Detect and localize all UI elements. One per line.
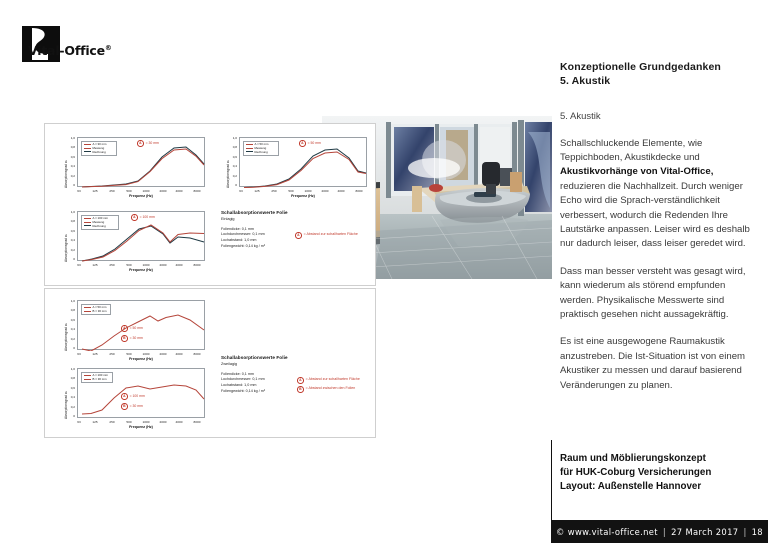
y-tick: 0,6 (65, 229, 75, 233)
x-tick: 1000 (301, 189, 315, 193)
badge-a: A (121, 393, 128, 400)
legend-label: Rechnung (93, 151, 106, 154)
footer-separator: | (658, 527, 671, 537)
chart-bottom-lower-xlabel: Frequenz (Hz) (111, 425, 171, 429)
chart-top-left-lower-legend: A = 100 mm Messung Rechnung (81, 215, 119, 230)
footer-page-number: 18 (752, 527, 763, 537)
y-tick: 1,0 (65, 299, 75, 303)
y-tick: 0 (65, 183, 75, 187)
badge-a: A (131, 214, 138, 221)
legend-swatch-b (84, 379, 91, 380)
body-paragraph-3: Es ist eine ausgewogene Raumakustik anzu… (560, 335, 760, 393)
y-tick: 0,2 (65, 174, 75, 178)
badge-a: A (297, 377, 304, 384)
x-tick: 250 (106, 189, 118, 193)
spec-block-top: Schallabsorptionswerte Folie Einlagig Fo… (221, 210, 369, 272)
x-tick: 4000 (172, 352, 186, 356)
x-tick: 2000 (156, 352, 170, 356)
x-tick: 8000 (190, 263, 204, 267)
chart-top-left-annotation: A = 30 mm (137, 140, 159, 147)
annotation-text: = 30 mm (146, 141, 159, 145)
footer-separator: | (738, 527, 751, 537)
footer-text: © www.vital-office.net|27 March 2017|18 (556, 527, 763, 537)
x-tick: 8000 (190, 420, 204, 424)
x-tick: 63 (73, 263, 85, 267)
badge-a: A (121, 325, 128, 332)
spec-legend-text: = Abstand zur schallharten Fläche (306, 377, 360, 382)
project-footer-line1: Raum und Möblierungskonzept (560, 452, 765, 466)
x-tick: 4000 (334, 189, 348, 193)
legend-swatch-a (84, 144, 91, 145)
chart-bottom-upper: Absorptionsgrad αₛ 1,0 0,8 0,6 0,4 0,2 0… (59, 297, 209, 363)
y-tick: 0,4 (65, 238, 75, 242)
y-tick: 0,4 (65, 395, 75, 399)
chart-bottom-lower-legend: A = 100 mm B = 30 mm (81, 372, 113, 383)
chart-bottom-lower-annotation-a: A = 100 mm (121, 393, 145, 400)
chart-panel-top: Absorptionsgrad αₛ 1,0 0,8 0,6 0,4 0,2 0… (44, 123, 376, 286)
annotation-text: = 100 mm (140, 215, 155, 219)
spec-block-bottom: Schallabsorptionswerte Folie Zweilagig F… (221, 355, 371, 425)
y-tick: 1,0 (65, 136, 75, 140)
project-footer-line3: Layout: Außenstelle Hannover (560, 480, 765, 494)
legend-label: B = 30 mm (93, 310, 107, 313)
annotation-text: = 30 mm (130, 404, 143, 408)
body-paragraph-2: Dass man besser versteht was gesagt wird… (560, 265, 760, 323)
chart-top-right-annotation: A = 50 mm (299, 140, 321, 147)
chart-top-right: Absorptionsgrad αₛ 1,0 0,8 0,6 0,4 0,2 0… (221, 134, 371, 200)
spec-top-subheading: Einlagig (221, 217, 369, 221)
brand-name: Vital-Office (28, 43, 105, 58)
x-tick: 500 (123, 263, 135, 267)
y-tick: 0,8 (65, 219, 75, 223)
chart-bottom-upper-legend: A = 50 mm B = 30 mm (81, 304, 111, 315)
x-tick: 4000 (172, 420, 186, 424)
spec-legend-text: = Abstand zur schallharten Fläche (304, 232, 358, 237)
x-tick: 2000 (156, 189, 170, 193)
legend-swatch-messung (84, 222, 91, 223)
y-tick: 0 (65, 414, 75, 418)
x-tick: 125 (89, 189, 101, 193)
y-tick: 0,2 (65, 405, 75, 409)
x-tick: 250 (106, 263, 118, 267)
y-tick: 1,0 (227, 136, 237, 140)
legend-label: Rechnung (93, 225, 106, 228)
x-tick: 4000 (172, 263, 186, 267)
right-text-column: Konzeptionelle Grundgedanken 5. Akustik … (560, 60, 760, 393)
project-footer-line2: für HUK-Coburg Versicherungen (560, 466, 765, 480)
annotation-text: = 30 mm (130, 336, 143, 340)
y-tick: 0,4 (65, 327, 75, 331)
x-tick: 1000 (139, 263, 153, 267)
badge-b: B (121, 335, 128, 342)
footer-website[interactable]: www.vital-office.net (568, 527, 658, 537)
x-tick: 8000 (190, 189, 204, 193)
y-tick: 0,4 (227, 164, 237, 168)
badge-a: A (295, 232, 302, 239)
annotation-text: = 50 mm (308, 141, 321, 145)
badge-b: B (121, 403, 128, 410)
copyright-symbol: © (556, 527, 565, 537)
chart-top-left-lower-xlabel: Frequenz (Hz) (111, 268, 171, 272)
chart-bottom-lower: Absorptionsgrad αₛ 1,0 0,8 0,6 0,4 0,2 0… (59, 365, 209, 431)
spec-top-legend: A = Abstand zur schallharten Fläche (295, 232, 358, 241)
y-tick: 0,8 (227, 145, 237, 149)
x-tick: 250 (106, 420, 118, 424)
x-tick: 125 (89, 352, 101, 356)
y-tick: 1,0 (65, 367, 75, 371)
x-tick: 63 (235, 189, 247, 193)
x-tick: 63 (73, 189, 85, 193)
x-tick: 8000 (352, 189, 366, 193)
page-title-line1: Konzeptionelle Grundgedanken (560, 60, 760, 74)
project-footer-text: Raum und Möblierungskonzept für HUK-Cobu… (560, 452, 765, 495)
x-tick: 250 (268, 189, 280, 193)
y-tick: 1,0 (65, 210, 75, 214)
page-title-line2: 5. Akustik (560, 74, 760, 88)
legend-swatch-a (84, 218, 91, 219)
x-tick: 4000 (172, 189, 186, 193)
x-tick: 125 (89, 420, 101, 424)
y-tick: 0 (65, 346, 75, 350)
y-tick: 0,4 (65, 164, 75, 168)
x-tick: 125 (89, 263, 101, 267)
chart-bottom-lower-annotation-b: B = 30 mm (121, 403, 143, 410)
x-tick: 500 (123, 189, 135, 193)
badge-b: B (297, 386, 304, 393)
legend-swatch-messung (84, 148, 91, 149)
spec-legend-text: = Abstand zwischen den Folien (306, 386, 356, 391)
legend-swatch-b (84, 311, 91, 312)
legend-label: B = 30 mm (93, 378, 107, 381)
chart-panel-bottom: Absorptionsgrad αₛ 1,0 0,8 0,6 0,4 0,2 0… (44, 288, 376, 438)
x-tick: 63 (73, 420, 85, 424)
spec-bottom-legend: A = Abstand zur schallharten Fläche B = … (297, 377, 360, 395)
x-tick: 63 (73, 352, 85, 356)
spec-item: Foliengewicht: 0,14 kg / m² (221, 244, 369, 250)
legend-swatch-rechnung (246, 151, 253, 152)
badge-a: A (137, 140, 144, 147)
section-label: 5. Akustik (560, 110, 760, 123)
x-tick: 2000 (156, 420, 170, 424)
chart-bottom-upper-xlabel: Frequenz (Hz) (111, 357, 171, 361)
chart-top-left: Absorptionsgrad αₛ 1,0 0,8 0,6 0,4 0,2 0… (59, 134, 209, 200)
footer-date: 27 March 2017 (671, 527, 738, 537)
y-tick: 0 (227, 183, 237, 187)
spec-top-heading: Schallabsorptionswerte Folie (221, 210, 369, 215)
annotation-text: = 50 mm (130, 326, 143, 330)
x-tick: 1000 (139, 189, 153, 193)
x-tick: 1000 (139, 352, 153, 356)
chart-top-left-lower-annotation: A = 100 mm (131, 214, 155, 221)
legend-swatch-a (84, 307, 91, 308)
legend-swatch-a (84, 375, 91, 376)
chart-top-right-legend: A = 50 mm Messung Rechnung (243, 141, 279, 156)
x-tick: 250 (106, 352, 118, 356)
badge-a: A (299, 140, 306, 147)
y-tick: 0,2 (65, 248, 75, 252)
chart-top-left-xlabel: Frequenz (Hz) (111, 194, 171, 198)
brand-logo: Vital-Office® (22, 26, 88, 62)
chart-bottom-upper-annotation-b: B = 30 mm (121, 335, 143, 342)
paragraph-1-bold: Akustikvorhänge von Vital-Office, (560, 166, 713, 177)
spec-bottom-heading: Schallabsorptionswerte Folie (221, 355, 371, 360)
y-tick: 0,8 (65, 308, 75, 312)
y-tick: 0,6 (65, 386, 75, 390)
x-tick: 125 (251, 189, 263, 193)
chart-bottom-upper-annotation-a: A = 50 mm (121, 325, 143, 332)
paragraph-1-pre: Schallschluckende Elemente, wie Teppichb… (560, 138, 702, 163)
x-tick: 2000 (156, 263, 170, 267)
legend-swatch-messung (246, 148, 253, 149)
slide-page: Vital-Office® (0, 0, 768, 543)
legend-label: Rechnung (255, 151, 268, 154)
chart-top-left-legend: A = 30 mm Messung Rechnung (81, 141, 117, 156)
vertical-divider (551, 440, 552, 520)
legend-swatch-a (246, 144, 253, 145)
legend-swatch-rechnung (84, 151, 91, 152)
y-tick: 0,2 (227, 174, 237, 178)
brand-wordmark: Vital-Office® (28, 45, 112, 58)
page-footer-bar: © www.vital-office.net|27 March 2017|18 (551, 520, 768, 543)
y-tick: 0,6 (227, 155, 237, 159)
y-tick: 0,2 (65, 337, 75, 341)
legend-swatch-rechnung (84, 225, 91, 226)
x-tick: 500 (123, 420, 135, 424)
x-tick: 2000 (318, 189, 332, 193)
chart-top-right-xlabel: Frequenz (Hz) (273, 194, 333, 198)
y-tick: 0,6 (65, 318, 75, 322)
body-paragraph-1: Schallschluckende Elemente, wie Teppichb… (560, 137, 760, 252)
x-tick: 8000 (190, 352, 204, 356)
page-title: Konzeptionelle Grundgedanken 5. Akustik (560, 60, 760, 88)
y-tick: 0 (65, 257, 75, 261)
registered-mark: ® (105, 44, 112, 52)
y-tick: 0,8 (65, 376, 75, 380)
spec-bottom-subheading: Zweilagig (221, 362, 371, 366)
x-tick: 1000 (139, 420, 153, 424)
y-tick: 0,8 (65, 145, 75, 149)
paragraph-1-post: reduzieren die Nachhallzeit. Durch wenig… (560, 181, 750, 250)
annotation-text: = 100 mm (130, 394, 145, 398)
x-tick: 500 (123, 352, 135, 356)
chart-top-left-lower: Absorptionsgrad αₛ 1,0 0,8 0,6 0,4 0,2 0… (59, 208, 209, 274)
y-tick: 0,6 (65, 155, 75, 159)
x-tick: 500 (285, 189, 297, 193)
